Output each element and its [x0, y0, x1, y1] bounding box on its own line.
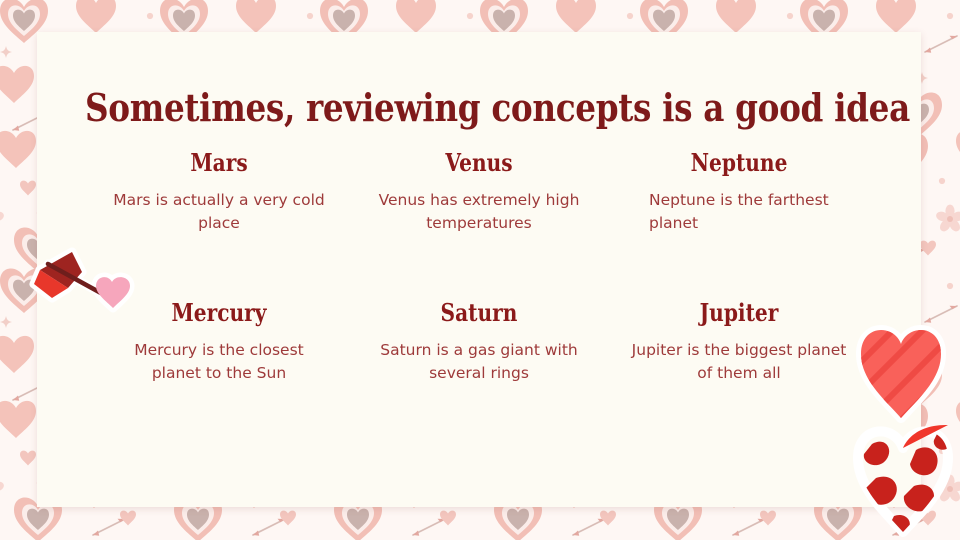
spotted-heart-icon — [842, 420, 960, 540]
planet-heading: Neptune — [637, 150, 842, 176]
planet-description: Mercury is the closest planet to the Sun — [112, 339, 327, 384]
planet-heading: Saturn — [377, 300, 582, 326]
content-card: Sometimes, reviewing concepts is a good … — [37, 32, 921, 507]
planet-description: Neptune is the farthest planet — [649, 189, 834, 234]
planet-heading: Mars — [117, 150, 322, 176]
planet-description: Saturn is a gas giant with several rings — [372, 339, 587, 384]
planet-item-venus: Venus Venus has extremely high temperatu… — [357, 150, 601, 300]
planet-description: Jupiter is the biggest planet of them al… — [632, 339, 847, 384]
slide-canvas: Sometimes, reviewing concepts is a good … — [0, 0, 960, 540]
planet-item-neptune: Neptune Neptune is the farthest planet — [617, 150, 861, 300]
planet-grid: Mars Mars is actually a very cold place … — [97, 150, 861, 450]
striped-heart-icon — [845, 318, 957, 426]
planet-item-jupiter: Jupiter Jupiter is the biggest planet of… — [617, 300, 861, 450]
planet-heading: Venus — [377, 150, 582, 176]
planet-heading: Jupiter — [637, 300, 842, 326]
cupid-arrow-icon — [28, 238, 148, 326]
planet-description: Mars is actually a very cold place — [112, 189, 327, 234]
planet-description: Venus has extremely high temperatures — [372, 189, 587, 234]
planet-item-saturn: Saturn Saturn is a gas giant with severa… — [357, 300, 601, 450]
page-title: Sometimes, reviewing concepts is a good … — [85, 85, 773, 130]
